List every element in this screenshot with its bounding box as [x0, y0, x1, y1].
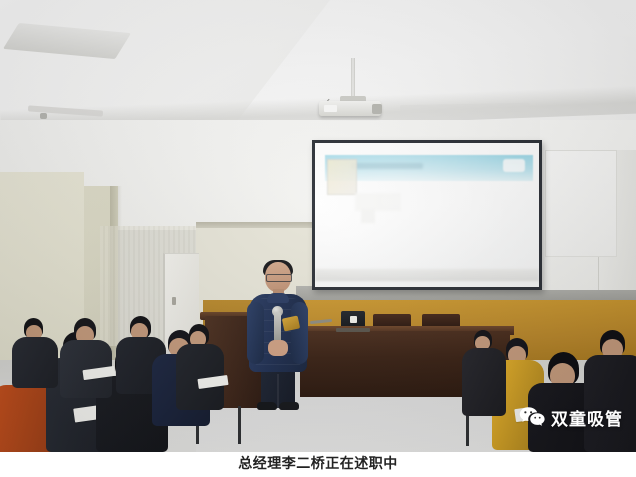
laptop-base	[336, 328, 370, 332]
watermark: 双童吸管	[519, 405, 623, 430]
ceiling-sensor-icon	[40, 113, 47, 119]
audience-person-8	[176, 324, 224, 410]
door-knob-icon	[172, 297, 176, 305]
projection-screen	[312, 140, 542, 290]
slide-thumbnail	[327, 159, 357, 195]
slide-logo-icon	[503, 159, 525, 172]
slide-title-text	[351, 163, 423, 169]
watermark-text: 双童吸管	[551, 405, 623, 430]
projector-vent	[324, 105, 337, 112]
presenter-hands	[268, 340, 288, 356]
caption-bar: 总经理李二桥正在述职中	[0, 452, 636, 477]
person-torso	[12, 337, 58, 388]
presenter-with-microphone	[247, 262, 309, 410]
audience-person-12	[462, 330, 506, 416]
chair-leg	[238, 406, 241, 444]
projector-mount-pole	[351, 58, 355, 100]
presenter-legs-seam	[277, 374, 279, 408]
slide-content-block	[361, 209, 375, 223]
projector-lens-icon	[372, 104, 382, 114]
slide-footer-band	[315, 269, 539, 281]
presenter-shoe	[257, 402, 277, 410]
glasses-icon	[266, 274, 292, 282]
photo-page: 双童吸管 总经理李二桥正在述职中	[0, 0, 636, 477]
photo-caption: 总经理李二桥正在述职中	[0, 452, 636, 477]
audience-person-4	[60, 318, 112, 398]
audience-person-11	[584, 330, 636, 452]
projection-screen-surface	[315, 143, 539, 287]
wall-whiteboard	[545, 150, 617, 257]
presenter-jacket-collar	[267, 293, 289, 303]
laptop-screen	[350, 316, 357, 323]
person-torso	[584, 355, 636, 452]
person-torso	[462, 348, 506, 416]
presenter-arm	[291, 302, 308, 364]
audience-person-7	[12, 318, 58, 388]
wechat-logo-icon	[519, 406, 545, 430]
presenter-arm	[247, 302, 264, 364]
meeting-photo: 双童吸管	[0, 0, 636, 452]
presenter-shoe	[279, 402, 299, 410]
